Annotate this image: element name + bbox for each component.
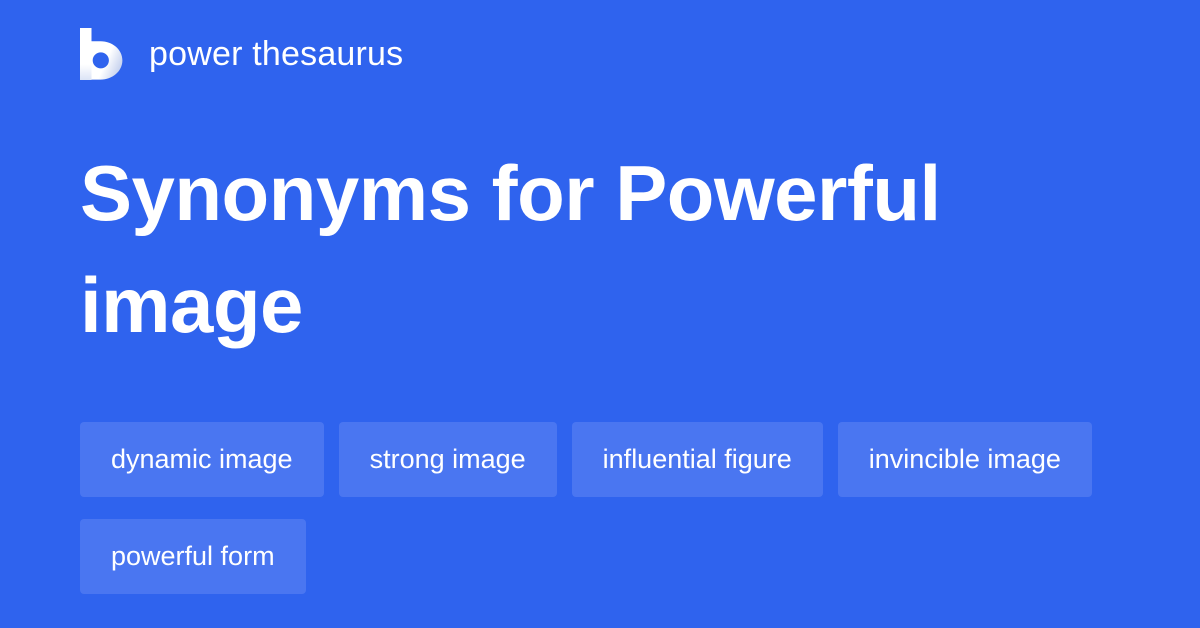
synonym-chip[interactable]: influential figure [572,422,823,497]
synonym-chip[interactable]: invincible image [838,422,1092,497]
synonym-chip[interactable]: dynamic image [80,422,324,497]
power-thesaurus-b-logo-icon [80,28,128,80]
synonym-chip[interactable]: strong image [339,422,557,497]
open-graph-card: power thesaurus Synonyms for Powerful im… [0,0,1200,628]
synonym-chip-list: dynamic image strong image influential f… [80,422,1120,594]
synonym-chip[interactable]: powerful form [80,519,306,594]
page-title: Synonyms for Powerful image [80,137,1040,361]
brand-logo[interactable]: power thesaurus [80,27,403,81]
brand-name: power thesaurus [149,37,403,71]
